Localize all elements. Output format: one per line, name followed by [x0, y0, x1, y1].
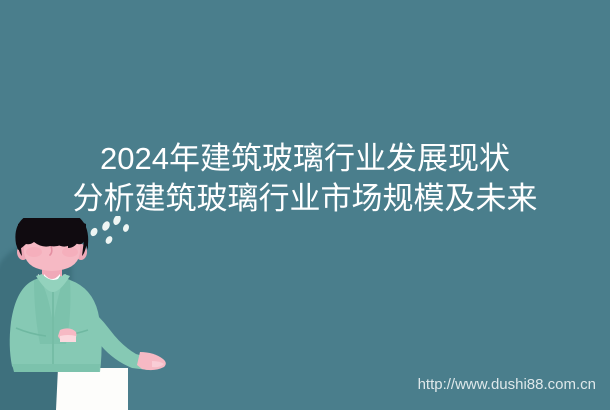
head — [15, 218, 88, 271]
watermark-url: http://www.dushi88.com.cn — [418, 376, 596, 394]
sparkle-dots — [86, 216, 142, 258]
page-title: 2024年建筑玻璃行业发展现状 分析建筑玻璃行业市场规模及未来 — [0, 139, 610, 219]
page-title-line-2: 分析建筑玻璃行业市场规模及未来 — [0, 179, 610, 219]
pants — [56, 368, 128, 410]
page-title-line-1: 2024年建筑玻璃行业发展现状 — [0, 139, 610, 179]
hand — [137, 352, 166, 370]
poster-canvas: 2024年建筑玻璃行业发展现状 分析建筑玻璃行业市场规模及未来 http://w… — [0, 0, 610, 410]
jacket-accent — [58, 328, 76, 342]
